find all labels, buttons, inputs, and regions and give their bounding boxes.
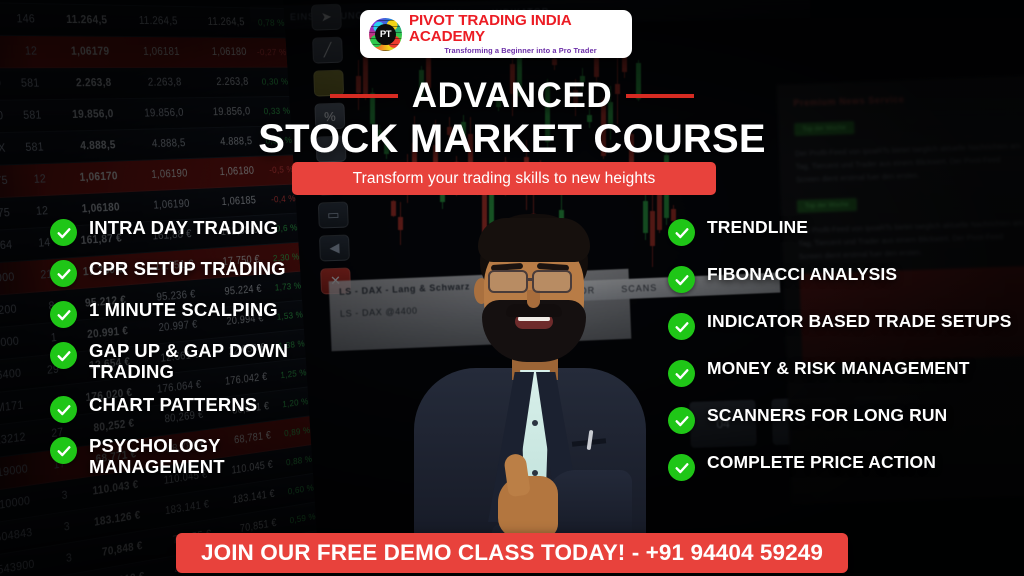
- feature-item-right-4: MONEY & RISK MANAGEMENT: [668, 359, 1018, 387]
- feature-label: COMPLETE PRICE ACTION: [707, 453, 936, 473]
- logo-monogram: PT: [375, 24, 396, 45]
- feature-item-left-2: CPR SETUP TRADING: [50, 259, 350, 287]
- headline-rule-left: [330, 94, 398, 98]
- check-icon: [668, 407, 695, 434]
- check-icon: [50, 342, 77, 369]
- globe-logo-icon: PT: [369, 18, 402, 51]
- brand-name: PIVOT TRADING INDIA ACADEMY: [409, 13, 632, 45]
- feature-item-left-6: PSYCHOLOGY MANAGEMENT: [50, 436, 350, 477]
- feature-item-left-4: GAP UP & GAP DOWN TRADING: [50, 341, 350, 382]
- feature-label: CHART PATTERNS: [89, 395, 257, 416]
- check-icon: [668, 360, 695, 387]
- feature-label: MONEY & RISK MANAGEMENT: [707, 359, 970, 379]
- feature-label: GAP UP & GAP DOWN TRADING: [89, 341, 350, 382]
- check-icon: [668, 313, 695, 340]
- feature-item-right-6: COMPLETE PRICE ACTION: [668, 453, 1018, 481]
- headline-subtitle: Transform your trading skills to new hei…: [353, 170, 656, 188]
- feature-item-right-5: SCANNERS FOR LONG RUN: [668, 406, 1018, 434]
- feature-label: PSYCHOLOGY MANAGEMENT: [89, 436, 350, 477]
- feature-item-right-2: FIBONACCI ANALYSIS: [668, 265, 1018, 293]
- feature-label: INTRA DAY TRADING: [89, 218, 278, 239]
- check-icon: [50, 260, 77, 287]
- cta-text: JOIN OUR FREE DEMO CLASS TODAY! - +91 94…: [201, 540, 823, 566]
- brand-logo-bar: PT PIVOT TRADING INDIA ACADEMY Transform…: [360, 10, 632, 58]
- check-icon: [668, 266, 695, 293]
- check-icon: [668, 219, 695, 246]
- headline-block: ADVANCED STOCK MARKET COURSE: [0, 76, 1024, 162]
- headline-rule-right: [626, 94, 694, 98]
- brand-tagline: Transforming a Beginner into a Pro Trade…: [409, 46, 632, 55]
- headline-subtitle-banner: Transform your trading skills to new hei…: [292, 162, 716, 195]
- cta-banner[interactable]: JOIN OUR FREE DEMO CLASS TODAY! - +91 94…: [176, 533, 848, 573]
- check-icon: [50, 301, 77, 328]
- feature-label: CPR SETUP TRADING: [89, 259, 286, 280]
- feature-list-right: TRENDLINEFIBONACCI ANALYSISINDICATOR BAS…: [668, 218, 1018, 481]
- feature-item-right-3: INDICATOR BASED TRADE SETUPS: [668, 312, 1018, 340]
- feature-label: FIBONACCI ANALYSIS: [707, 265, 897, 285]
- headline-line-2: STOCK MARKET COURSE: [0, 117, 1024, 162]
- feature-item-left-1: INTRA DAY TRADING: [50, 218, 350, 246]
- check-icon: [50, 219, 77, 246]
- feature-item-left-3: 1 MINUTE SCALPING: [50, 300, 350, 328]
- headline-line-1: ADVANCED: [412, 76, 613, 116]
- check-icon: [50, 437, 77, 464]
- feature-item-left-5: CHART PATTERNS: [50, 395, 350, 423]
- check-icon: [50, 396, 77, 423]
- feature-label: INDICATOR BASED TRADE SETUPS: [707, 312, 1012, 332]
- feature-label: SCANNERS FOR LONG RUN: [707, 406, 947, 426]
- feature-item-right-1: TRENDLINE: [668, 218, 1018, 246]
- feature-label: TRENDLINE: [707, 218, 808, 238]
- feature-label: 1 MINUTE SCALPING: [89, 300, 278, 321]
- feature-list-left: INTRA DAY TRADINGCPR SETUP TRADING1 MINU…: [50, 218, 350, 478]
- check-icon: [668, 454, 695, 481]
